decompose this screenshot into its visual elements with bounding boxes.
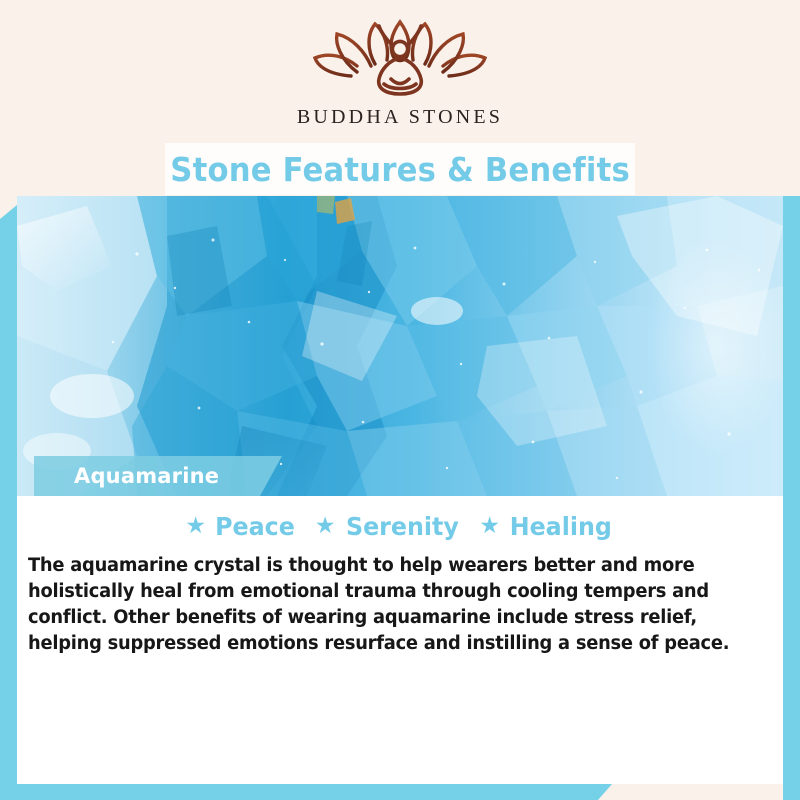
benefit-item-healing: ★ Healing <box>479 512 614 541</box>
benefit-item-serenity: ★ Serenity <box>315 512 462 541</box>
frame-accent-bottom <box>0 784 612 800</box>
page-title-banner: Stone Features & Benefits <box>165 143 635 195</box>
content-panel: ★ Peace ★ Serenity ★ Healing The aquamar… <box>17 496 783 784</box>
benefit-label: Serenity <box>346 512 459 541</box>
brand-logo: BUDDHA STONES <box>0 16 800 129</box>
header: BUDDHA STONES Stone Features & Benefits <box>0 0 800 196</box>
benefit-label: Peace <box>215 512 295 541</box>
stone-name-label: Aquamarine <box>74 464 219 488</box>
page-title: Stone Features & Benefits <box>170 150 630 189</box>
stone-name-badge: Aquamarine <box>34 456 282 496</box>
frame-accent-left <box>0 205 17 800</box>
benefit-keywords: ★ Peace ★ Serenity ★ Healing <box>17 512 783 541</box>
description-text: The aquamarine crystal is thought to hel… <box>28 553 746 657</box>
infographic-card: BUDDHA STONES Stone Features & Benefits <box>0 0 800 800</box>
aquamarine-crystal-image <box>17 196 783 496</box>
star-icon: ★ <box>185 515 206 538</box>
stone-photo: Aquamarine <box>17 196 783 496</box>
benefit-item-peace: ★ Peace <box>185 512 297 541</box>
lotus-meditation-icon <box>305 16 495 102</box>
star-icon: ★ <box>315 515 336 538</box>
star-icon: ★ <box>479 515 500 538</box>
benefit-label: Healing <box>510 512 612 541</box>
brand-name: BUDDHA STONES <box>297 106 503 129</box>
